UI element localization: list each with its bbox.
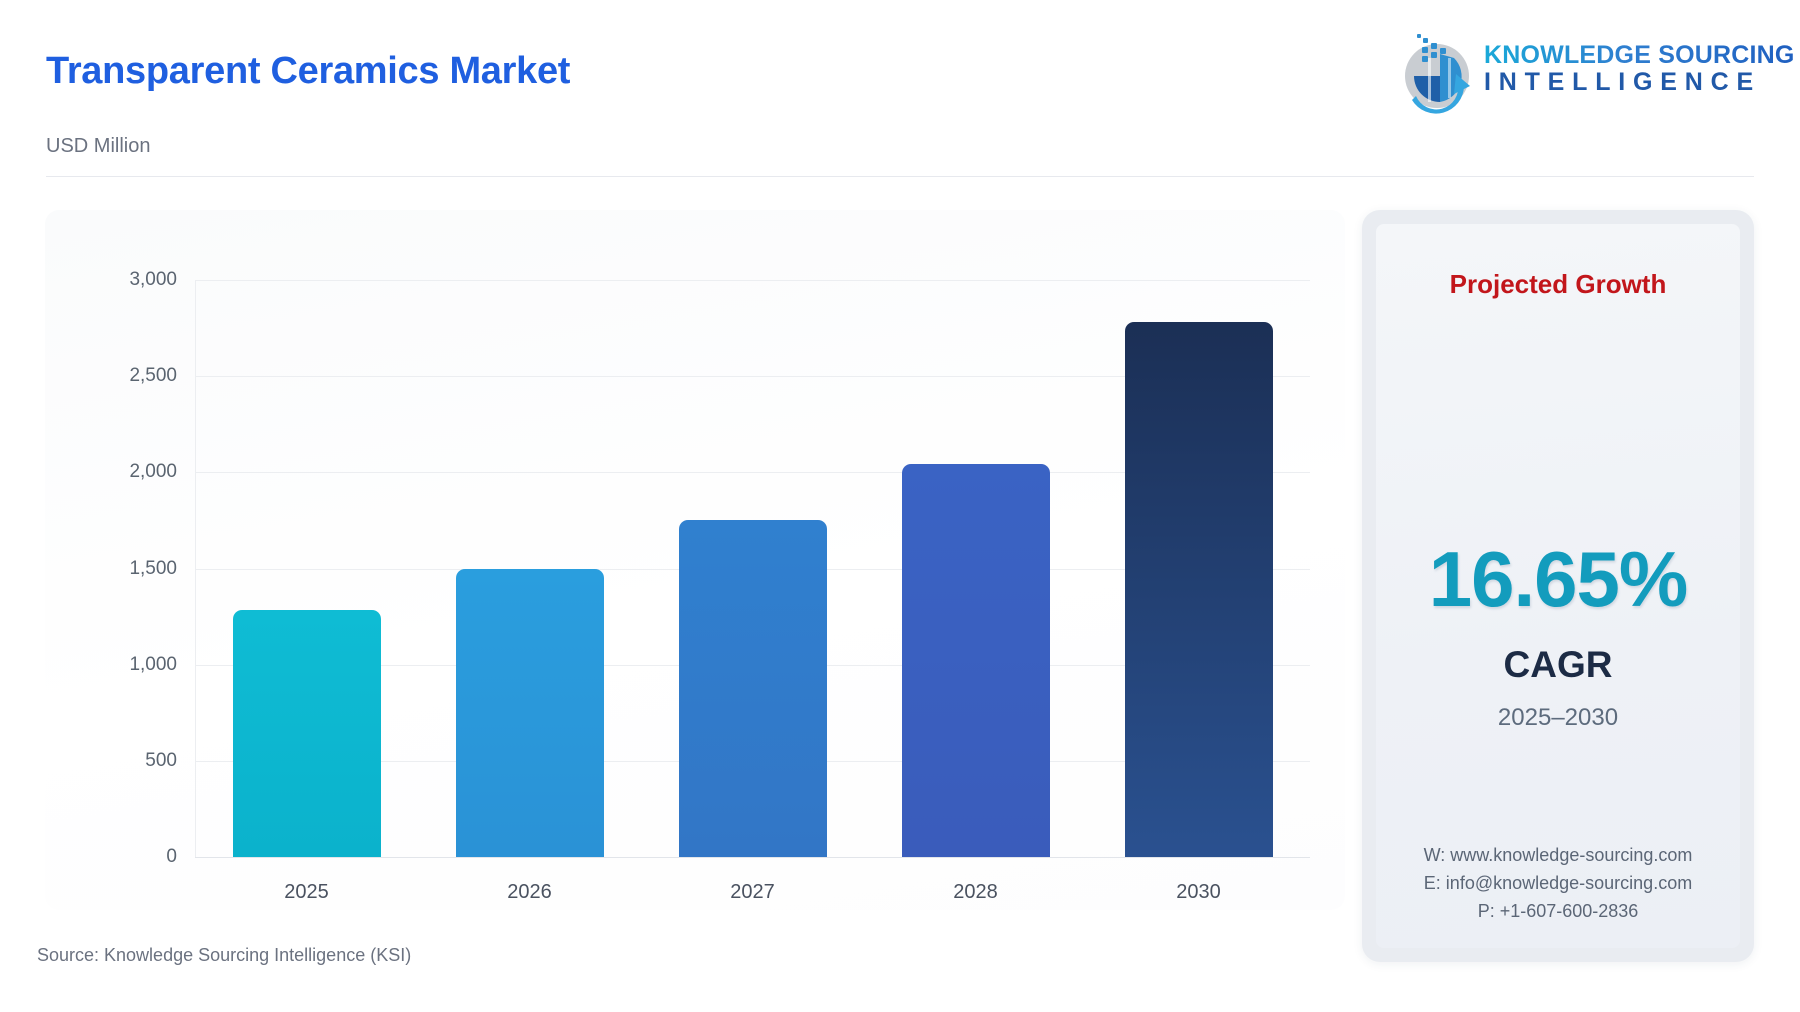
logo-wordmark: KNOWLEDGE SOURCING INTELLIGENCE [1484, 42, 1795, 97]
chart-panel: 05001,0001,5002,0002,5003,000 2025202620… [45, 210, 1345, 910]
x-axis-tick-label: 2028 [953, 881, 998, 904]
page-header: Transparent Ceramics Market USD Million [0, 0, 1800, 178]
y-axis-tick-label: 500 [145, 750, 177, 772]
cagr-label: CAGR [1376, 644, 1740, 686]
y-axis-tick-label: 1,500 [129, 558, 177, 580]
y-axis-tick-label: 2,000 [129, 461, 177, 483]
plot-area: 05001,0001,5002,0002,5003,000 2025202620… [155, 280, 1310, 857]
contact-email: E: info@knowledge-sourcing.com [1376, 870, 1740, 898]
contact-website: W: www.knowledge-sourcing.com [1376, 842, 1740, 870]
bar-chart-arrow-circle-icon [1392, 28, 1478, 114]
bar-2028[interactable] [902, 464, 1050, 857]
projected-growth-card-inner: Projected Growth 16.65% CAGR 2025–2030 W… [1376, 224, 1740, 948]
y-axis-tick-label: 0 [166, 846, 177, 868]
x-axis-tick-label: 2027 [730, 881, 775, 904]
bars-group [195, 280, 1310, 857]
source-note: Source: Knowledge Sourcing Intelligence … [37, 945, 411, 966]
projected-growth-card: Projected Growth 16.65% CAGR 2025–2030 W… [1362, 210, 1754, 962]
contact-phone: P: +1-607-600-2836 [1376, 898, 1740, 926]
bar-2027[interactable] [679, 520, 827, 857]
x-axis-tick-label: 2030 [1176, 881, 1221, 904]
cagr-value: 16.65% [1376, 534, 1740, 625]
y-axis-tick-label: 3,000 [129, 269, 177, 291]
bar-2030[interactable] [1125, 322, 1273, 857]
header-divider [46, 176, 1754, 177]
y-axis-tick-label: 2,500 [129, 365, 177, 387]
projected-growth-heading: Projected Growth [1376, 269, 1740, 300]
gridline [195, 857, 1310, 858]
x-axis-tick-label: 2025 [284, 881, 329, 904]
cagr-period: 2025–2030 [1376, 704, 1740, 732]
bar-2026[interactable] [456, 569, 604, 857]
logo-line-intelligence: INTELLIGENCE [1484, 68, 1795, 97]
company-logo: KNOWLEDGE SOURCING INTELLIGENCE [1392, 22, 1762, 118]
logo-line-knowledge-sourcing: KNOWLEDGE SOURCING [1484, 42, 1795, 68]
page-subtitle: USD Million [46, 135, 150, 158]
x-axis-tick-label: 2026 [507, 881, 552, 904]
contact-block: W: www.knowledge-sourcing.com E: info@kn… [1376, 842, 1740, 926]
page-title: Transparent Ceramics Market [46, 50, 570, 93]
y-axis-tick-label: 1,000 [129, 654, 177, 676]
bar-2025[interactable] [233, 610, 381, 857]
